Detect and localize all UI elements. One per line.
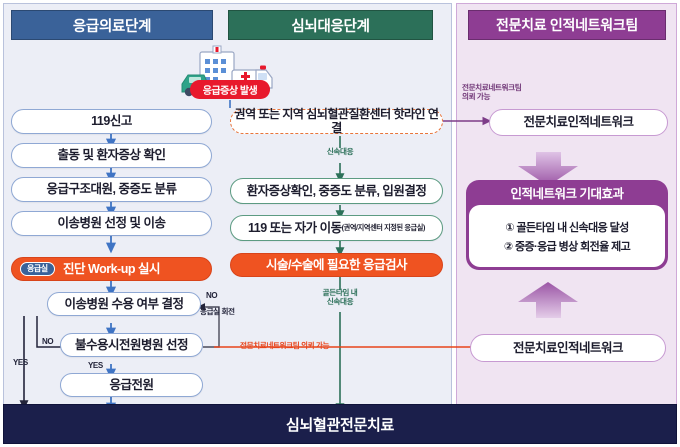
diagram-root: 응급의료단계 심뇌대응단계 전문치료 인적네트워크팀 <box>0 0 680 447</box>
node-transfer-hospital-selection[interactable]: 불수용시전원병원 선정 <box>60 333 203 357</box>
node-119-report[interactable]: 119신고 <box>11 109 212 134</box>
label-yes-2: YES <box>88 361 103 371</box>
label-er-rotation: 응급실 회전 <box>200 307 235 316</box>
node-diagnostic-workup-label: 진단 Work-up 실시 <box>63 262 160 276</box>
effect-item-1: ① 골든타임 내 신속대응 달성 <box>505 219 628 235</box>
label-no-2: NO <box>42 337 53 347</box>
node-119-or-self-transport-sub: (권역/지역센터 지정된 응급실) <box>342 224 425 232</box>
footer-bar: 심뇌혈관전문치료 <box>3 404 677 444</box>
header-cardio-stage: 심뇌대응단계 <box>228 10 433 40</box>
node-ems-triage[interactable]: 응급구조대원, 중증도 분류 <box>11 177 212 202</box>
effects-box: 인적네트워크 기대효과 ① 골든타임 내 신속대응 달성 ② 중증·응급 병상 … <box>466 180 668 270</box>
node-network-top[interactable]: 전문치료인적네트워크 <box>489 109 668 136</box>
label-no-1: NO <box>206 291 217 301</box>
node-symptom-triage-admission[interactable]: 환자증상확인, 중증도 분류, 입원결정 <box>230 178 443 204</box>
alert-badge-emergency-symptom: 응급증상 발생 <box>190 80 270 99</box>
node-emergency-tests[interactable]: 시술/수술에 필요한 응급검사 <box>230 253 443 277</box>
node-hotline-connection[interactable]: 권역 또는 지역 심뇌혈관질환센터 핫라인 연결 <box>230 109 443 134</box>
header-network-team: 전문치료 인적네트워크팀 <box>468 10 666 40</box>
node-acceptance-decision[interactable]: 이송병원 수용 여부 결정 <box>47 292 201 316</box>
er-badge: 응급실 <box>20 262 55 276</box>
effect-item-2: ② 중증·응급 병상 회전율 제고 <box>504 238 630 254</box>
node-dispatch-symptom-check[interactable]: 출동 및 환자증상 확인 <box>11 143 212 168</box>
header-emergency-stage: 응급의료단계 <box>11 10 213 40</box>
effects-title: 인적네트워크 기대효과 <box>466 180 668 205</box>
effects-list: ① 골든타임 내 신속대응 달성 ② 중증·응급 병상 회전율 제고 <box>469 205 665 267</box>
label-yes-1: YES <box>13 358 28 368</box>
label-referral-possible: 전문치료네트워크팀 의뢰 가능 <box>240 341 329 350</box>
referral-note-top: 전문치료네트워크팀 의뢰 가능 <box>462 83 521 102</box>
node-hospital-selection-transport[interactable]: 이송병원 선정 및 이송 <box>11 211 212 236</box>
node-119-or-self-transport[interactable]: 119 또는 자가 이동 (권역/지역센터 지정된 응급실) <box>230 215 443 241</box>
node-119-or-self-transport-label: 119 또는 자가 이동 <box>248 221 342 235</box>
label-golden-time: 골든타임 내 신속대응 <box>312 288 368 307</box>
node-emergency-transfer[interactable]: 응급전원 <box>60 373 203 397</box>
node-diagnostic-workup[interactable]: 응급실 진단 Work-up 실시 <box>11 257 212 281</box>
node-network-bottom[interactable]: 전문치료인적네트워크 <box>470 334 666 362</box>
label-rapid-response: 신속대응 <box>318 147 362 156</box>
